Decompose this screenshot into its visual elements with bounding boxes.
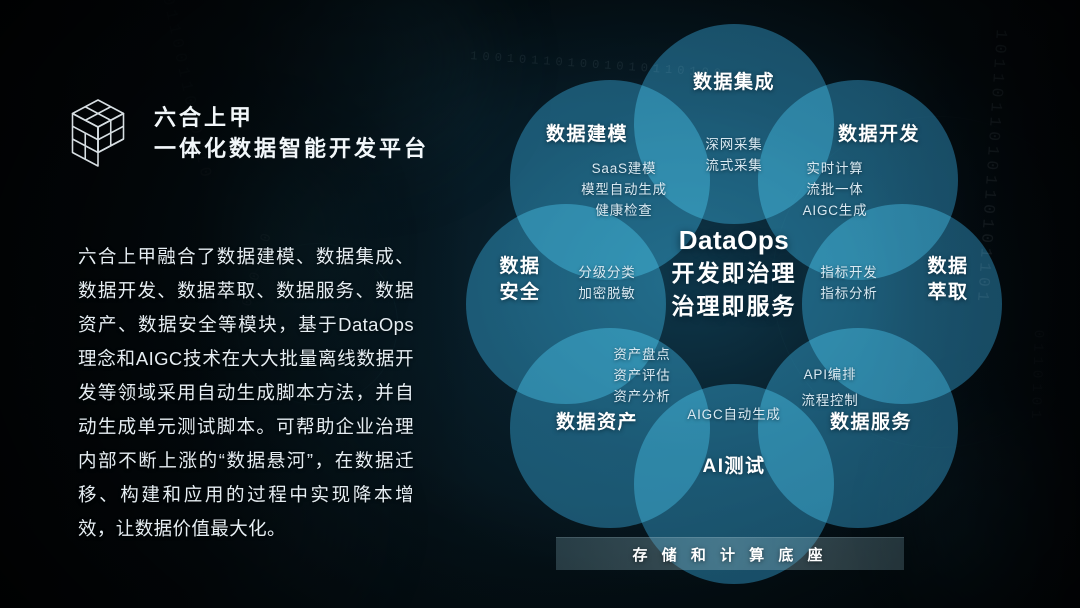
venn-items-ai-testing: AIGC自动生成 [644, 404, 824, 425]
venn-item: 健康检查 [554, 200, 694, 221]
venn-center-label: DataOps 开发即治理 治理即服务 [448, 224, 1020, 323]
platform-description: 六合上甲融合了数据建模、数据集成、数据开发、数据萃取、数据服务、数据资产、数据安… [78, 240, 414, 546]
capability-venn-diagram: 数据集成 深网采集 流式采集 数据建模 SaaS建模 模型自动生成 健康检查 数… [448, 18, 1020, 538]
brand-text: 六合上甲 一体化数据智能开发平台 [154, 105, 429, 161]
venn-item: API编排 [766, 362, 894, 388]
venn-item: AIGC自动生成 [644, 404, 824, 425]
brick-corner-logo-icon [60, 94, 136, 172]
venn-item: 资产盘点 [576, 344, 708, 365]
center-line-1: 开发即治理 [448, 257, 1020, 290]
slide-canvas: 0110011000010 01000110 10110110101101011… [0, 0, 1080, 608]
brand-name: 六合上甲 [154, 105, 429, 130]
venn-item: 模型自动生成 [554, 179, 694, 200]
venn-item: SaaS建模 [554, 158, 694, 179]
venn-items-data-modeling: SaaS建模 模型自动生成 健康检查 [554, 158, 694, 221]
brand-subtitle: 一体化数据智能开发平台 [154, 136, 429, 161]
venn-label-data-modeling: 数据建模 [492, 122, 682, 148]
foundation-bar: 存 储 和 计 算 底 座 [556, 537, 904, 570]
venn-items-data-development: 实时计算 流批一体 AIGC生成 [770, 158, 900, 221]
center-title-en: DataOps [448, 224, 1020, 257]
venn-item: AIGC生成 [770, 200, 900, 221]
venn-items-data-assets: 资产盘点 资产评估 资产分析 [576, 344, 708, 407]
venn-label-data-development: 数据开发 [784, 122, 974, 148]
venn-item: 流批一体 [770, 179, 900, 200]
venn-item: 实时计算 [770, 158, 900, 179]
center-line-2: 治理即服务 [448, 290, 1020, 323]
foundation-label: 存 储 和 计 算 底 座 [632, 544, 827, 565]
venn-item: 资产评估 [576, 365, 708, 386]
brand-block: 六合上甲 一体化数据智能开发平台 [60, 94, 429, 172]
venn-label-data-integration: 数据集成 [634, 70, 834, 96]
venn-label-ai-testing: AI测试 [634, 454, 834, 480]
